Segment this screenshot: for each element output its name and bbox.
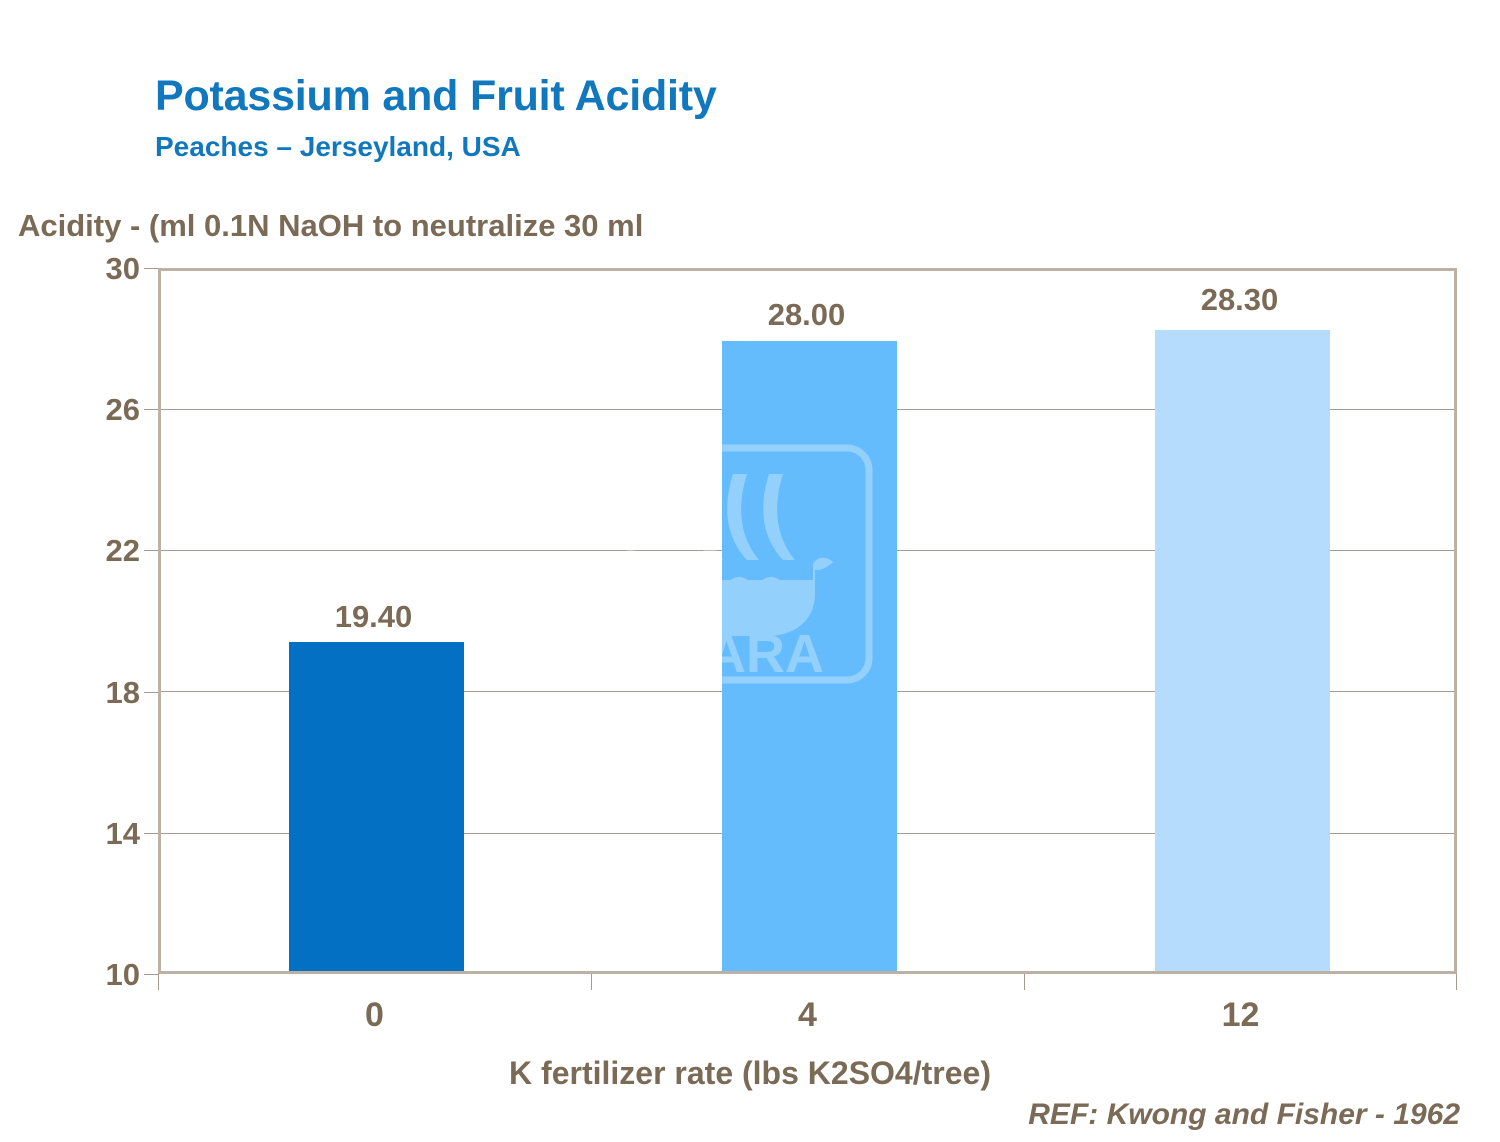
y-tick-mark — [144, 974, 158, 975]
y-tick-label: 26 — [80, 394, 140, 425]
y-tick-label: 18 — [80, 677, 140, 708]
bar-category-12[interactable] — [1155, 330, 1330, 971]
y-tick-mark — [144, 409, 158, 410]
bar-value-label-12: 28.30 — [1152, 284, 1327, 315]
y-tick-mark — [144, 833, 158, 834]
chart-subtitle: Peaches – Jerseyland, USA — [155, 131, 521, 163]
y-tick-label: 30 — [80, 253, 140, 284]
x-tick-separator — [591, 974, 592, 990]
x-tick-label-12: 12 — [1024, 998, 1457, 1032]
x-tick-label-0: 0 — [158, 998, 591, 1032]
y-tick-mark — [144, 268, 158, 269]
y-tick-label: 10 — [80, 959, 140, 990]
y-tick-label: 22 — [80, 535, 140, 566]
bar-value-label-4: 28.00 — [719, 299, 894, 330]
x-axis-label: K fertilizer rate (lbs K2SO4/tree) — [0, 1055, 1500, 1092]
x-tick-separator — [1456, 974, 1457, 990]
y-axis-tick-labels: 30 26 22 18 14 10 — [60, 0, 140, 1142]
y-tick-mark — [144, 692, 158, 693]
x-tick-separator — [1024, 974, 1025, 990]
y-tick-label: 14 — [80, 818, 140, 849]
bar-value-label-0: 19.40 — [286, 601, 461, 632]
x-tick-separator — [158, 974, 159, 990]
reference-note: REF: Kwong and Fisher - 1962 — [1028, 1098, 1460, 1132]
x-tick-label-4: 4 — [591, 998, 1024, 1032]
bar-category-0[interactable] — [289, 642, 464, 971]
chart-title: Potassium and Fruit Acidity — [155, 72, 717, 121]
bar-category-4[interactable] — [722, 341, 897, 971]
y-tick-mark — [144, 550, 158, 551]
